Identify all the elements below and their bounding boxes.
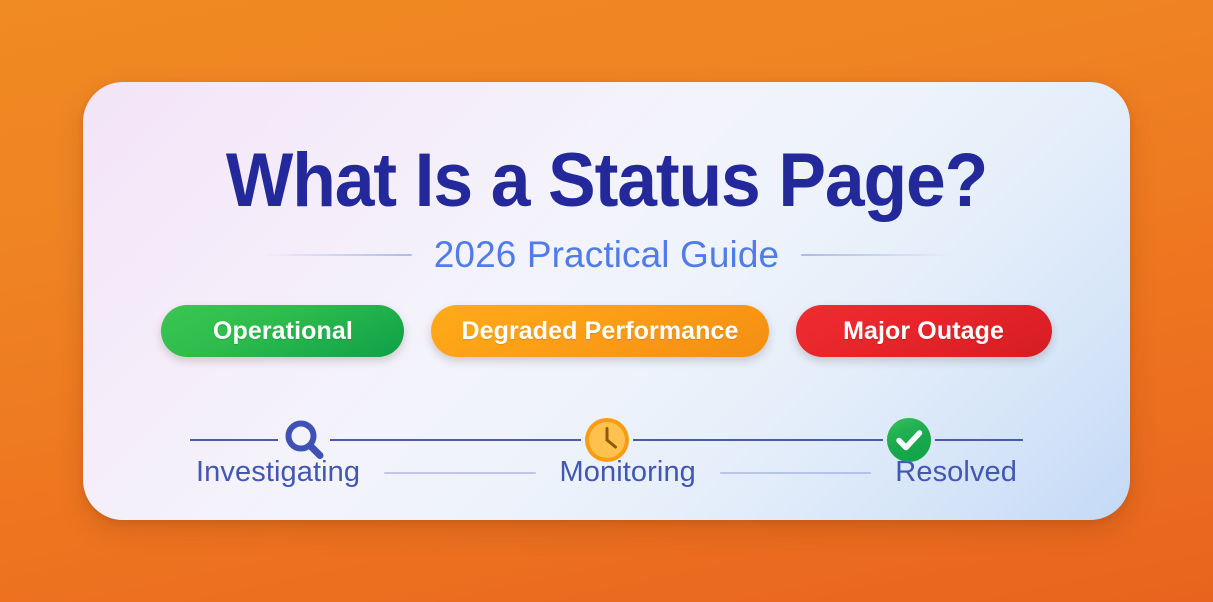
timeline-connector-end <box>935 439 1023 441</box>
page-title: What Is a Status Page? <box>114 140 1098 222</box>
timeline-connector-2 <box>633 439 884 441</box>
timeline-node-investigating[interactable] <box>278 414 330 466</box>
timeline-node-resolved[interactable] <box>883 414 935 466</box>
clock-icon <box>584 417 630 463</box>
timeline-label-rule-1 <box>384 472 535 474</box>
page-subtitle: 2026 Practical Guide <box>434 234 779 276</box>
status-badge-row: Operational Degraded Performance Major O… <box>83 305 1130 357</box>
timeline-node-monitoring[interactable] <box>581 414 633 466</box>
subtitle-rule-right <box>801 254 951 256</box>
subtitle-rule-left <box>262 254 412 256</box>
status-badge-major-outage-label: Major Outage <box>843 317 1004 346</box>
check-circle-icon <box>886 417 932 463</box>
status-badge-operational[interactable]: Operational <box>161 305 404 357</box>
magnifying-glass-icon <box>280 416 328 464</box>
card-header: What Is a Status Page? 2026 Practical Gu… <box>83 140 1130 276</box>
status-badge-degraded-performance[interactable]: Degraded Performance <box>431 305 768 357</box>
status-badge-major-outage[interactable]: Major Outage <box>796 305 1052 357</box>
incident-status-timeline: Investigating Monitoring Resolved <box>190 382 1023 492</box>
subtitle-row: 2026 Practical Guide <box>83 234 1130 276</box>
status-page-card: What Is a Status Page? 2026 Practical Gu… <box>83 82 1130 520</box>
timeline-track <box>190 414 1023 466</box>
timeline-label-rule-2 <box>720 472 871 474</box>
status-badge-operational-label: Operational <box>213 317 353 346</box>
timeline-connector-start <box>190 439 278 441</box>
status-badge-degraded-performance-label: Degraded Performance <box>461 317 738 346</box>
timeline-connector-1 <box>330 439 581 441</box>
